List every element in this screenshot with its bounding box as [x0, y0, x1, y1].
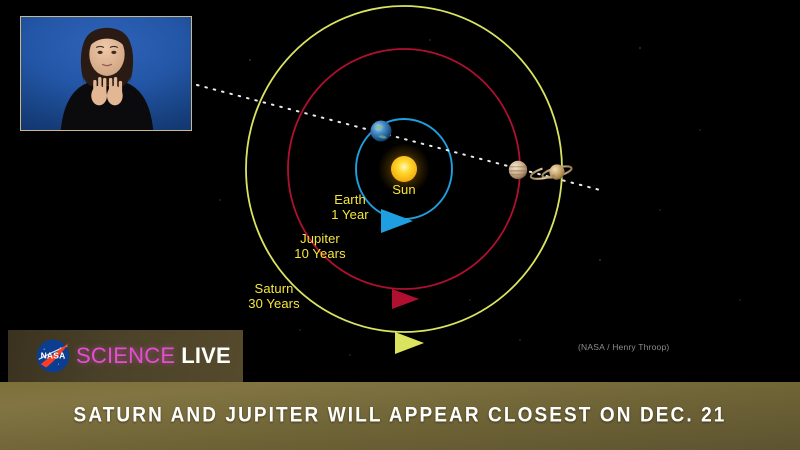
wordmark-live: LIVE	[181, 343, 231, 369]
label-jupiter-name: Jupiter	[280, 231, 360, 246]
label-earth-period: 1 Year	[318, 207, 382, 222]
nasa-meatball-icon: NASA	[36, 339, 70, 373]
label-saturn: Saturn 30 Years	[234, 281, 314, 311]
label-jupiter: Jupiter 10 Years	[280, 231, 360, 261]
label-earth-name: Earth	[318, 192, 382, 207]
planet-earth	[371, 121, 392, 142]
image-credit: (NASA / Henry Throop)	[578, 342, 669, 352]
lower-third-banner: SATURN AND JUPITER WILL APPEAR CLOSEST O…	[0, 382, 800, 450]
label-saturn-period: 30 Years	[234, 296, 314, 311]
label-saturn-name: Saturn	[234, 281, 314, 296]
video-frame: Sun Earth 1 Year Jupiter 10 Years Saturn…	[0, 0, 800, 450]
label-jupiter-period: 10 Years	[280, 246, 360, 261]
interpreter-figure	[21, 17, 191, 130]
wordmark-science: SCIENCE	[76, 343, 175, 369]
svg-text:NASA: NASA	[41, 351, 66, 361]
science-live-wordmark: SCIENCE LIVE	[76, 343, 231, 369]
label-sun-name: Sun	[382, 182, 426, 197]
planet-saturn	[531, 164, 573, 180]
nasa-science-live-logo: NASA SCIENCE LIVE	[8, 330, 243, 382]
sign-language-interpreter-inset	[20, 16, 192, 131]
label-sun: Sun	[382, 182, 426, 197]
banner-headline: SATURN AND JUPITER WILL APPEAR CLOSEST O…	[74, 404, 727, 429]
label-earth: Earth 1 Year	[318, 192, 382, 222]
planet-jupiter	[509, 161, 527, 179]
